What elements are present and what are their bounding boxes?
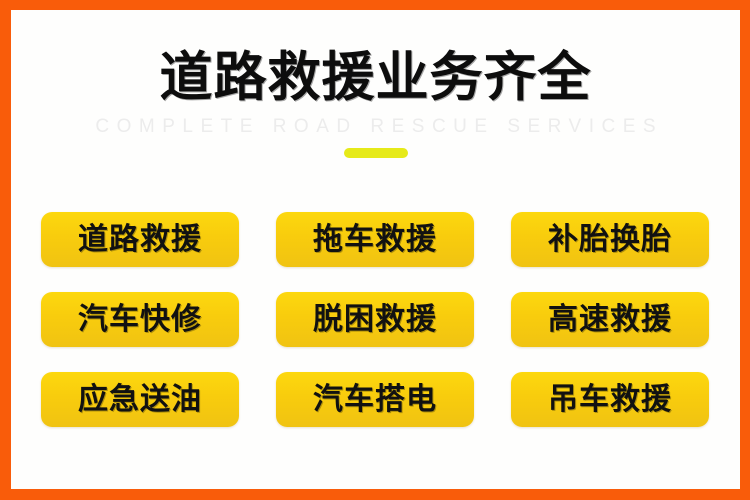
service-button-label: 拖车救援 (313, 223, 437, 257)
service-button-label: 汽车快修 (78, 303, 202, 337)
service-button[interactable]: 高速救援 (511, 292, 709, 347)
rescue-services-poster: 道路救援业务齐全 COMPLETE ROAD RESCUE SERVICES 道… (0, 0, 750, 500)
poster-frame-top (0, 0, 750, 10)
service-button[interactable]: 汽车搭电 (276, 372, 474, 427)
accent-underline-bar (344, 148, 408, 158)
poster-content-area: 道路救援业务齐全 COMPLETE ROAD RESCUE SERVICES 道… (11, 10, 740, 489)
service-button-label: 吊车救援 (548, 383, 672, 417)
poster-header: 道路救援业务齐全 COMPLETE ROAD RESCUE SERVICES (11, 48, 740, 158)
service-button[interactable]: 脱困救援 (276, 292, 474, 347)
service-button[interactable]: 补胎换胎 (511, 212, 709, 267)
service-button-label: 高速救援 (548, 303, 672, 337)
service-button[interactable]: 道路救援 (41, 212, 239, 267)
service-button-grid: 道路救援拖车救援补胎换胎汽车快修脱困救援高速救援应急送油汽车搭电吊车救援 (41, 212, 709, 427)
poster-frame-right (740, 0, 750, 500)
service-button[interactable]: 汽车快修 (41, 292, 239, 347)
service-button[interactable]: 吊车救援 (511, 372, 709, 427)
service-button[interactable]: 应急送油 (41, 372, 239, 427)
accent-bar-container (11, 148, 740, 158)
page-subtitle: COMPLETE ROAD RESCUE SERVICES (11, 116, 740, 138)
service-button-label: 应急送油 (78, 383, 202, 417)
service-button-label: 道路救援 (78, 223, 202, 257)
service-button-label: 脱困救援 (313, 303, 437, 337)
service-button-label: 汽车搭电 (313, 383, 437, 417)
service-button[interactable]: 拖车救援 (276, 212, 474, 267)
poster-frame-bottom (0, 489, 750, 500)
service-button-label: 补胎换胎 (548, 223, 672, 257)
poster-frame-left (0, 0, 11, 500)
page-title: 道路救援业务齐全 (11, 48, 740, 108)
